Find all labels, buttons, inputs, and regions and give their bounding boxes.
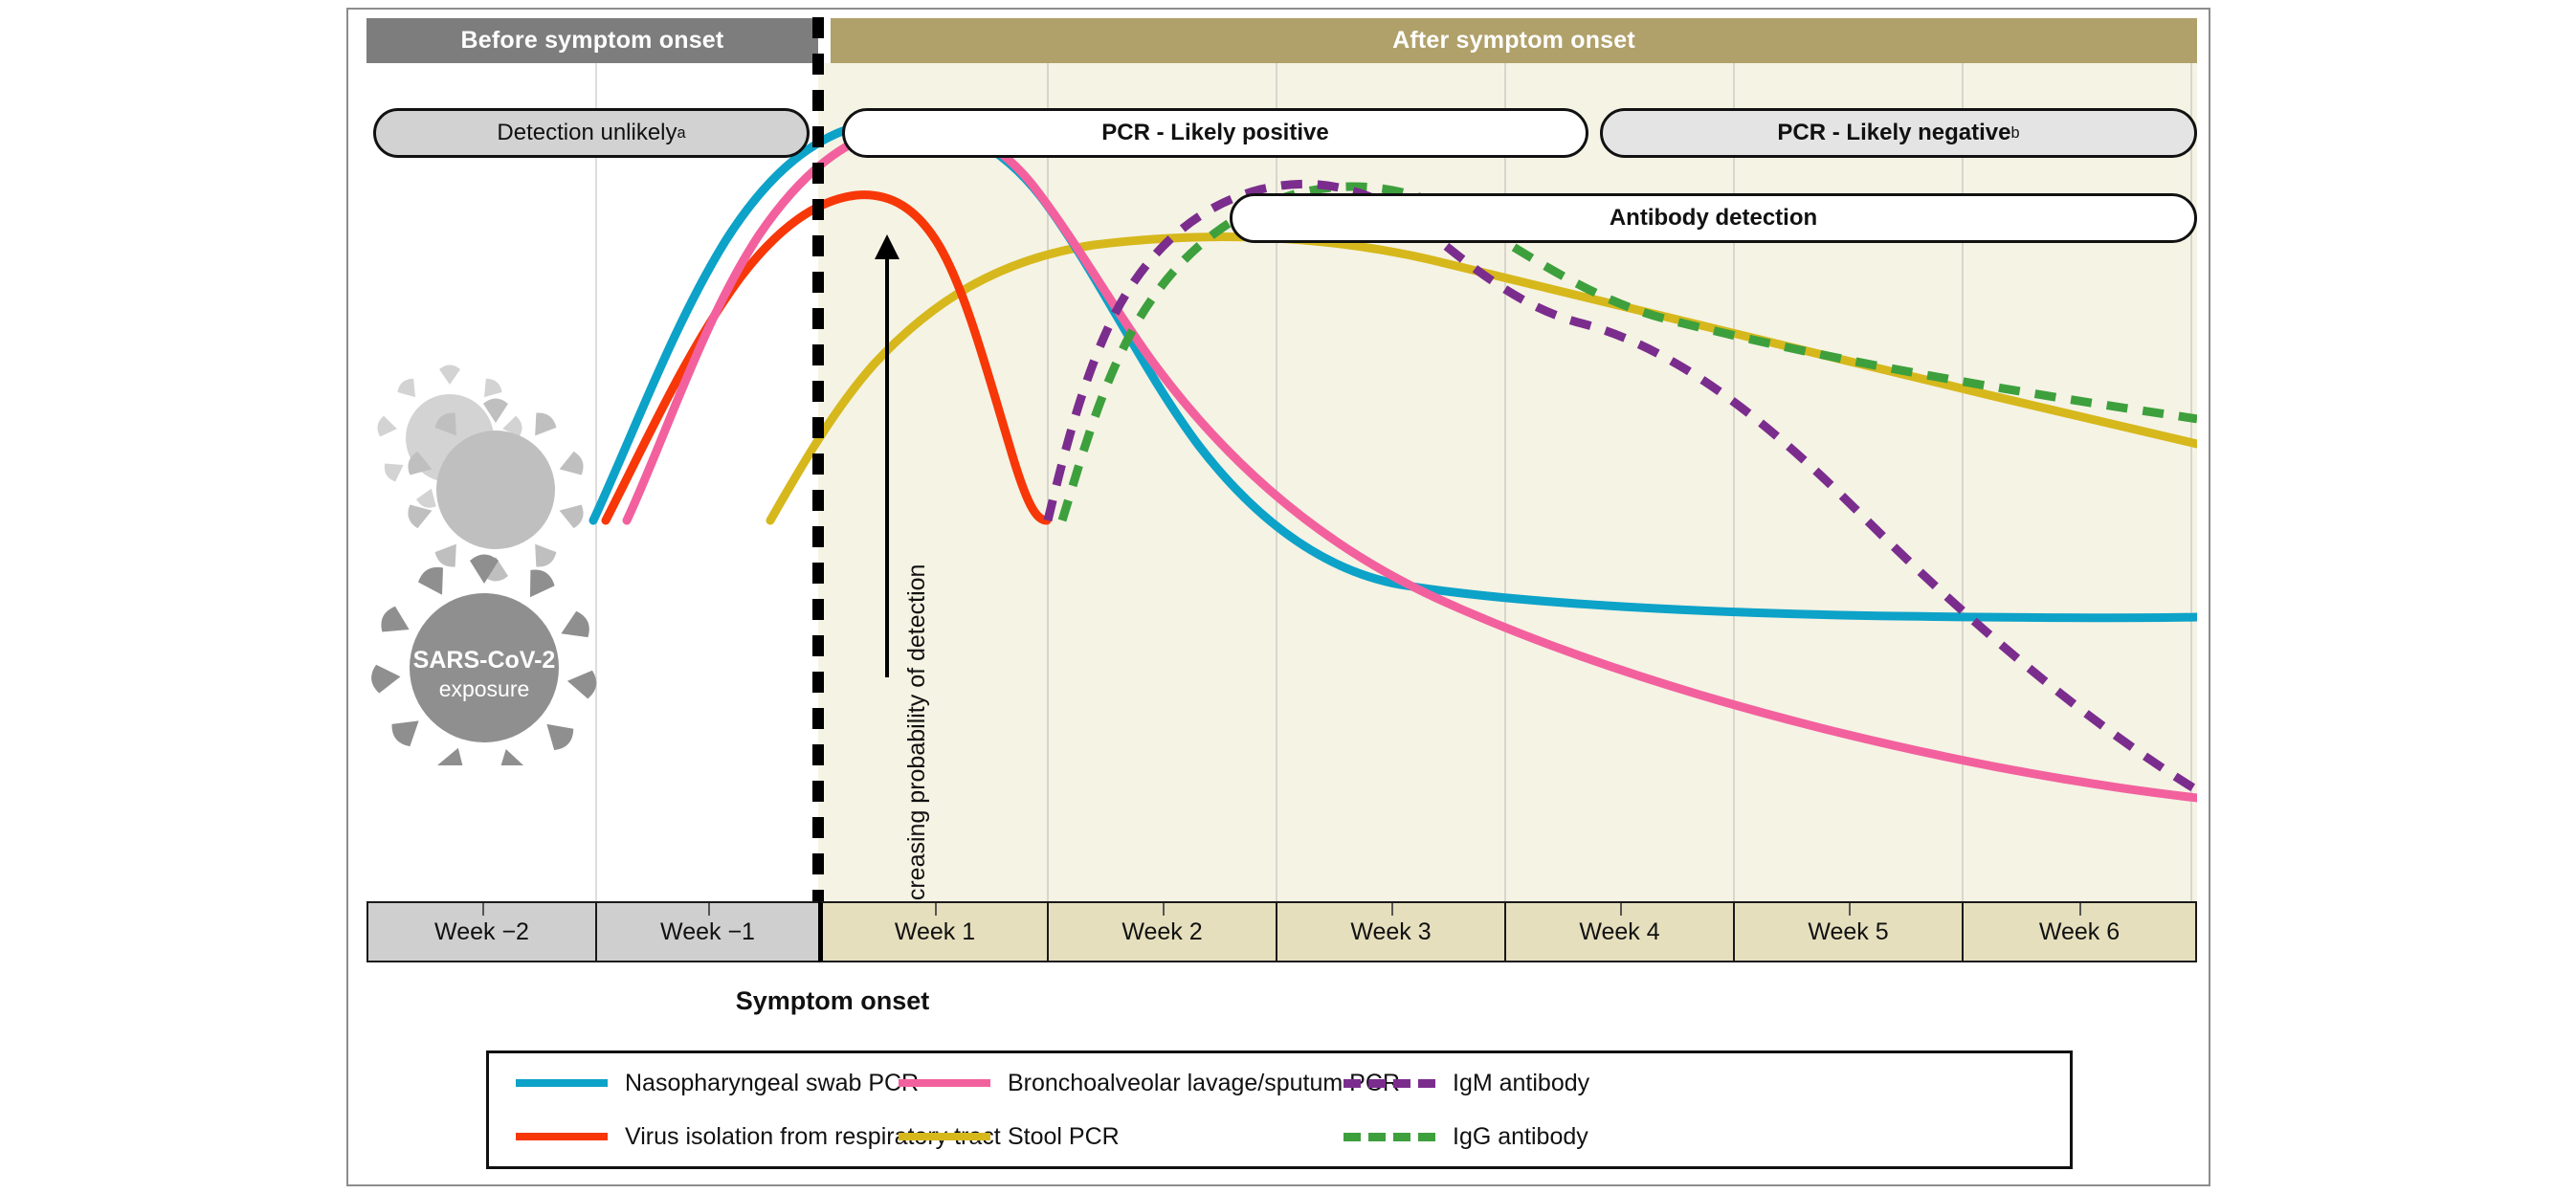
axis-week-minus2-label: Week −2	[434, 918, 529, 946]
legend-label-bal-sputum-pcr: Bronchoalveolar lavage/sputum PCR	[1008, 1070, 1400, 1097]
axis-week-2[interactable]: Week 2	[1047, 901, 1276, 962]
axis-week-minus1-label: Week −1	[660, 918, 755, 946]
symptom-onset-divider	[812, 17, 824, 926]
legend-item-nasopharyngeal-swab-pcr[interactable]: Nasopharyngeal swab PCR	[516, 1063, 899, 1103]
legend-swatch-stool-pcr	[899, 1133, 990, 1140]
pill-antibody-detection[interactable]: Antibody detection	[1230, 193, 2197, 243]
legend-label-stool-pcr: Stool PCR	[1008, 1123, 1120, 1151]
axis-week-3-label: Week 3	[1350, 918, 1431, 946]
probability-arrow-icon	[885, 256, 889, 677]
pill-antibody-detection-label: Antibody detection	[1610, 205, 1817, 232]
detection-curves	[366, 63, 2197, 901]
pill-pcr-likely-negative[interactable]: PCR - Likely negativeb	[1600, 108, 2197, 158]
legend-swatch-bal-sputum-pcr	[899, 1079, 990, 1087]
legend-label-igm-antibody: IgM antibody	[1453, 1070, 1589, 1097]
pill-pcr-likely-positive[interactable]: PCR - Likely positive	[842, 108, 1588, 158]
week-axis: Week −2 Week −1 Week 1 Week 2 Week 3 Wee…	[366, 901, 2197, 962]
legend-swatch-igm-antibody	[1344, 1079, 1435, 1088]
legend-swatch-igg-antibody	[1344, 1133, 1435, 1141]
legend-swatch-nasopharyngeal-swab-pcr	[516, 1079, 608, 1087]
legend-item-stool-pcr[interactable]: Stool PCR	[899, 1117, 1344, 1157]
legend-label-nasopharyngeal-swab-pcr: Nasopharyngeal swab PCR	[625, 1070, 919, 1097]
axis-week-1[interactable]: Week 1	[818, 901, 1047, 962]
legend-item-igg-antibody[interactable]: IgG antibody	[1344, 1117, 1765, 1157]
y-axis-label-text: Increasing probability of detection	[903, 564, 931, 920]
axis-week-minus1[interactable]: Week −1	[595, 901, 818, 962]
axis-week-6-label: Week 6	[2039, 918, 2120, 946]
curve-virus-isolation	[606, 195, 1047, 520]
legend-label-igg-antibody: IgG antibody	[1453, 1123, 1588, 1151]
phase-band-after: After symptom onset	[831, 18, 2197, 63]
symptom-onset-caption: Symptom onset	[708, 986, 957, 1016]
curve-igm-antibody	[1048, 184, 2197, 790]
axis-week-4[interactable]: Week 4	[1504, 901, 1733, 962]
axis-week-3[interactable]: Week 3	[1276, 901, 1504, 962]
pill-pcr-likely-positive-label: PCR - Likely positive	[1101, 120, 1328, 146]
legend-item-virus-isolation[interactable]: Virus isolation from respiratory tract	[516, 1117, 899, 1157]
phase-band-after-label: After symptom onset	[1392, 27, 1635, 55]
pill-pcr-likely-negative-label: PCR - Likely negative	[1777, 120, 2010, 146]
axis-week-2-label: Week 2	[1121, 918, 1202, 946]
pill-detection-unlikely[interactable]: Detection unlikelya	[373, 108, 810, 158]
axis-week-6[interactable]: Week 6	[1962, 901, 2197, 962]
axis-week-minus2[interactable]: Week −2	[366, 901, 595, 962]
phase-band-before: Before symptom onset	[366, 18, 818, 63]
axis-week-5[interactable]: Week 5	[1733, 901, 1962, 962]
axis-week-4-label: Week 4	[1579, 918, 1659, 946]
legend-swatch-virus-isolation	[516, 1133, 608, 1140]
legend: Nasopharyngeal swab PCR Bronchoalveolar …	[486, 1050, 2073, 1169]
legend-item-igm-antibody[interactable]: IgM antibody	[1344, 1063, 1765, 1103]
phase-band-before-label: Before symptom onset	[461, 27, 724, 55]
axis-week-1-label: Week 1	[895, 918, 975, 946]
pill-detection-unlikely-label: Detection unlikely	[497, 120, 677, 146]
legend-item-bal-sputum-pcr[interactable]: Bronchoalveolar lavage/sputum PCR	[899, 1063, 1344, 1103]
axis-week-5-label: Week 5	[1808, 918, 1888, 946]
figure-root: Before symptom onset After symptom onset	[0, 0, 2576, 1194]
